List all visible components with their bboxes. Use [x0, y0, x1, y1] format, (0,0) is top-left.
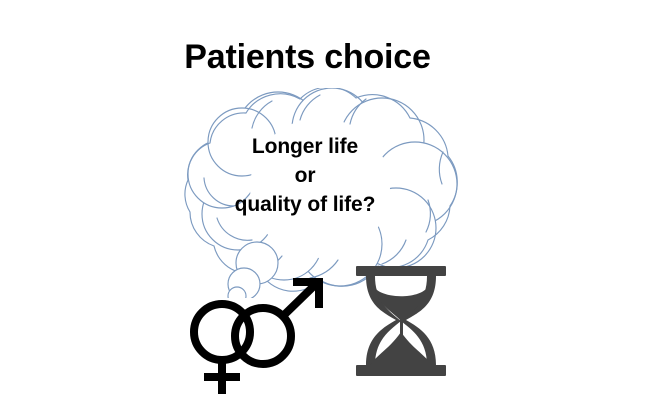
gender-symbols-icon: [190, 270, 340, 398]
hourglass-icon: [348, 258, 458, 384]
bubble-line-2: or: [160, 161, 450, 190]
bubble-line-3: quality of life?: [160, 190, 450, 219]
hourglass-top-cap: [356, 266, 446, 276]
hourglass-sand-stream: [400, 314, 403, 336]
hourglass-bottom-cap: [356, 365, 446, 376]
slide-canvas: Patients choice: [0, 0, 666, 409]
thought-bubble-text: Longer life or quality of life?: [160, 132, 450, 219]
female-venus-symbol: [194, 304, 250, 394]
bubble-line-1: Longer life: [160, 132, 450, 161]
hourglass-shape: [348, 258, 458, 384]
gender-symbols-shape: [190, 270, 340, 398]
page-title: Patients choice: [0, 36, 615, 78]
